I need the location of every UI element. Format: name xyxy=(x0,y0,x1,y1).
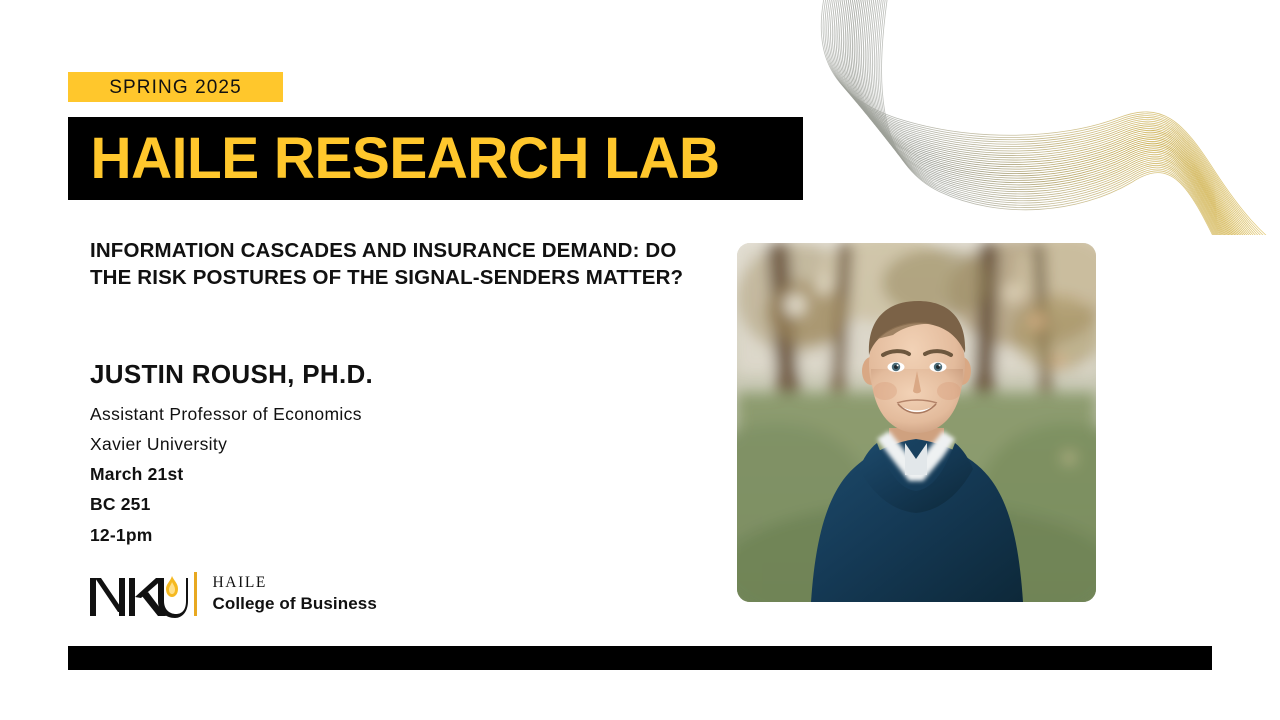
event-date: March 21st xyxy=(90,459,690,489)
nku-flame-icon xyxy=(88,568,188,620)
speaker-details: JUSTIN ROUSH, PH.D. Assistant Professor … xyxy=(90,358,690,550)
series-title-label: HAILE RESEARCH LAB xyxy=(68,130,720,188)
logo-college-label: College of Business xyxy=(213,593,377,614)
series-title-banner: HAILE RESEARCH LAB xyxy=(68,117,803,200)
event-location: BC 251 xyxy=(90,489,690,519)
logo-wordmark: HAILE College of Business xyxy=(213,574,377,615)
footer-bar xyxy=(68,646,1212,670)
logo-haile-label: HAILE xyxy=(213,574,377,593)
season-badge-label: SPRING 2025 xyxy=(109,78,242,97)
season-badge: SPRING 2025 xyxy=(68,72,283,102)
speaker-photo xyxy=(737,243,1096,602)
speaker-name: JUSTIN ROUSH, PH.D. xyxy=(90,358,690,391)
logo-divider xyxy=(194,572,197,616)
talk-title: INFORMATION CASCADES AND INSURANCE DEMAN… xyxy=(90,238,690,292)
speaker-affiliation: Xavier University xyxy=(90,429,690,459)
speaker-title: Assistant Professor of Economics xyxy=(90,399,690,429)
presentation-slide: SPRING 2025 HAILE RESEARCH LAB INFORMATI… xyxy=(0,0,1280,720)
nku-haile-college-logo: HAILE College of Business xyxy=(88,566,377,622)
event-time: 12-1pm xyxy=(90,520,690,550)
contour-wave-decoration xyxy=(810,0,1280,235)
